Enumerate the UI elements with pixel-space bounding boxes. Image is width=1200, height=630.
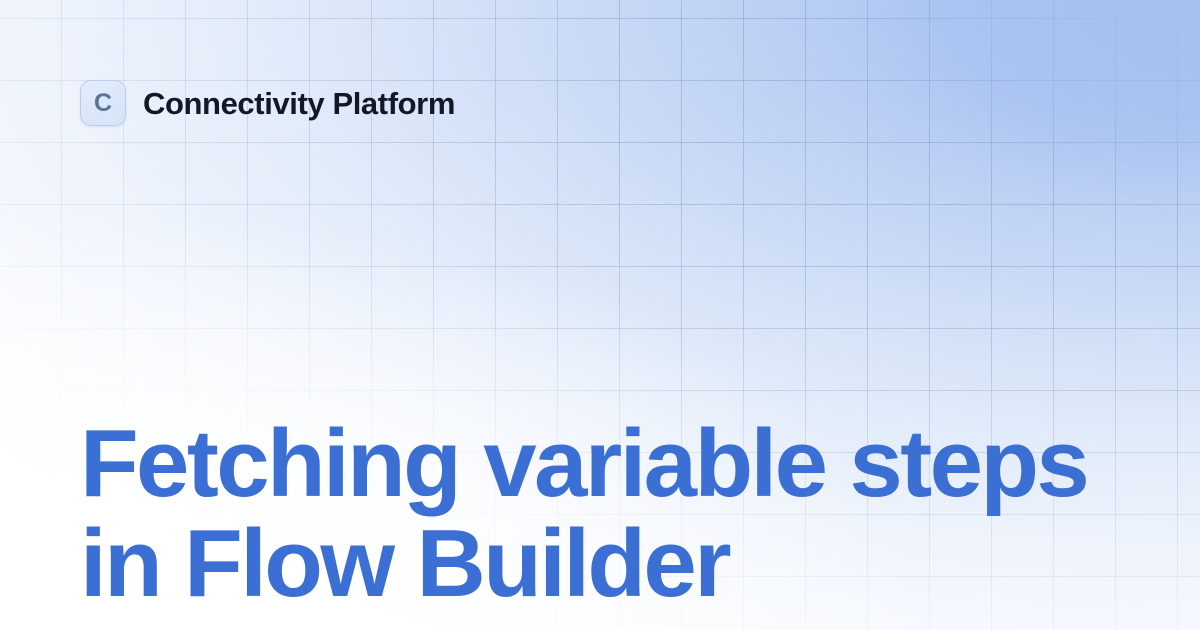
page-title: Fetching variable steps in Flow Builder [80, 416, 1150, 612]
brand-row: C Connectivity Platform [80, 80, 455, 126]
page-title-line-2: in Flow Builder [80, 516, 1150, 612]
connectivity-platform-logo-icon: C [80, 80, 126, 126]
brand-title: Connectivity Platform [143, 88, 455, 119]
og-share-card: C Connectivity Platform Fetching variabl… [0, 0, 1200, 630]
page-title-line-1: Fetching variable steps [80, 416, 1150, 512]
logo-letter: C [94, 91, 112, 116]
